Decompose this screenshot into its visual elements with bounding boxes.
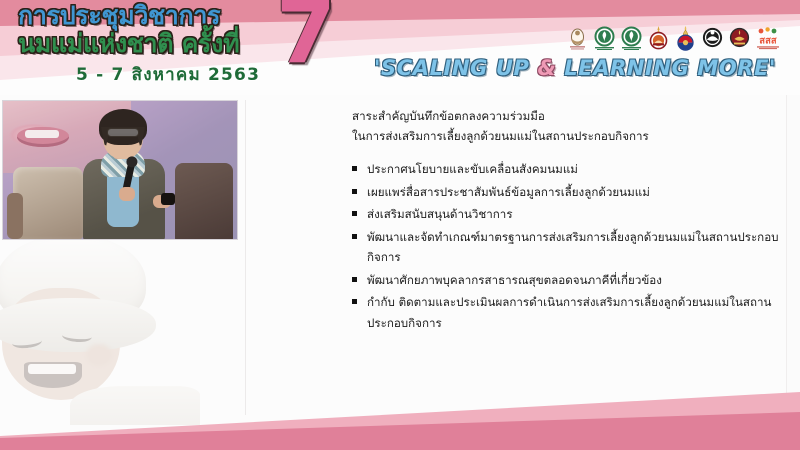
health-department-logo <box>620 26 643 51</box>
list-item-text: พัฒนาศักยภาพบุคลากรสาธารณสุขตลอดจนภาคีที… <box>367 273 662 287</box>
speaker-hand-left <box>119 187 135 201</box>
bullet-square-icon <box>352 277 357 282</box>
slide-content: สาระสำคัญบันทึกข้อตกลงความร่วมมือ ในการส… <box>352 106 782 335</box>
conference-tagline: 'SCALING UP & LEARNING MORE' <box>360 56 790 80</box>
bullet-square-icon <box>352 189 357 194</box>
speaker-glasses <box>107 128 139 137</box>
list-item: พัฒนาศักยภาพบุคลากรสาธารณสุขตลอดจนภาคีที… <box>352 270 782 291</box>
black-circle-emblem-logo <box>701 26 724 51</box>
royal-crown-logo <box>674 26 697 51</box>
speaker-presentation-photo <box>2 100 238 240</box>
stage-chair-right <box>175 163 233 240</box>
list-item-text: พัฒนาและจัดทำเกณฑ์มาตรฐานการส่งเสริมการเ… <box>367 230 779 265</box>
conference-title-line2: นมแม่แห่งชาติ ครั้งที่ <box>18 30 318 57</box>
bullet-square-icon <box>352 166 357 171</box>
list-item: ส่งเสริมสนับสนุนด้านวิชาการ <box>352 204 782 225</box>
content-lead-paragraph: สาระสำคัญบันทึกข้อตกลงความร่วมมือ ในการส… <box>352 106 782 146</box>
content-lead-line2: ในการส่งเสริมการเลี้ยงลูกด้วยนมแม่ในสถาน… <box>352 126 782 146</box>
tagline-part1: 'SCALING UP <box>374 56 538 80</box>
list-item-text: ประกาศนโยบายและขับเคลื่อนสังคมนมแม่ <box>367 162 578 176</box>
content-divider-line <box>245 100 246 415</box>
dark-red-emblem-logo <box>728 26 751 51</box>
list-item: ประกาศนโยบายและขับเคลื่อนสังคมนมแม่ <box>352 159 782 180</box>
tagline-ampersand: & <box>537 56 556 80</box>
partner-logos-row: สสส <box>566 26 778 51</box>
conference-title-block: การประชุมวิชาการ นมแม่แห่งชาติ ครั้งที่ … <box>18 2 318 88</box>
list-item: เผยแพร่สื่อสารประชาสัมพันธ์ข้อมูลการเลี้… <box>352 182 782 203</box>
content-bullet-list: ประกาศนโยบายและขับเคลื่อนสังคมนมแม่ เผยแ… <box>352 159 782 333</box>
list-item-text: กำกับ ติดตามและประเมินผลการดำเนินการส่งเ… <box>367 295 771 330</box>
bullet-square-icon <box>352 211 357 216</box>
presentation-slide: การประชุมวิชาการ นมแม่แห่งชาติ ครั้งที่ … <box>0 0 800 450</box>
slide-right-margin <box>786 95 800 415</box>
speaker-hair <box>99 109 147 145</box>
ministry-public-health-logo <box>593 26 616 51</box>
list-item: กำกับ ติดตามและประเมินผลการดำเนินการส่งเ… <box>352 292 782 333</box>
svg-text:สสส: สสส <box>759 36 777 47</box>
conference-title-line1: การประชุมวิชาการ <box>18 2 318 29</box>
bullet-square-icon <box>352 299 357 304</box>
content-lead-line1: สาระสำคัญบันทึกข้อตกลงความร่วมมือ <box>352 106 782 126</box>
bottom-decorative-wedge <box>0 390 800 450</box>
thaihealth-sss-logo: สสส <box>755 26 778 51</box>
royal-emblem-logo <box>566 26 589 51</box>
backdrop-teeth <box>25 130 59 138</box>
stage-chair-left <box>13 167 83 239</box>
thai-pagoda-logo <box>647 26 670 51</box>
bullet-square-icon <box>352 234 357 239</box>
list-item-text: เผยแพร่สื่อสารประชาสัมพันธ์ข้อมูลการเลี้… <box>367 185 650 199</box>
list-item-text: ส่งเสริมสนับสนุนด้านวิชาการ <box>367 207 513 221</box>
tagline-part2: LEARNING MORE' <box>556 56 776 80</box>
list-item: พัฒนาและจัดทำเกณฑ์มาตรฐานการส่งเสริมการเ… <box>352 227 782 268</box>
presenter-remote <box>161 193 175 205</box>
edition-number-7: 7 <box>276 0 336 76</box>
child-cheek <box>86 344 112 366</box>
child-teeth <box>28 364 76 374</box>
